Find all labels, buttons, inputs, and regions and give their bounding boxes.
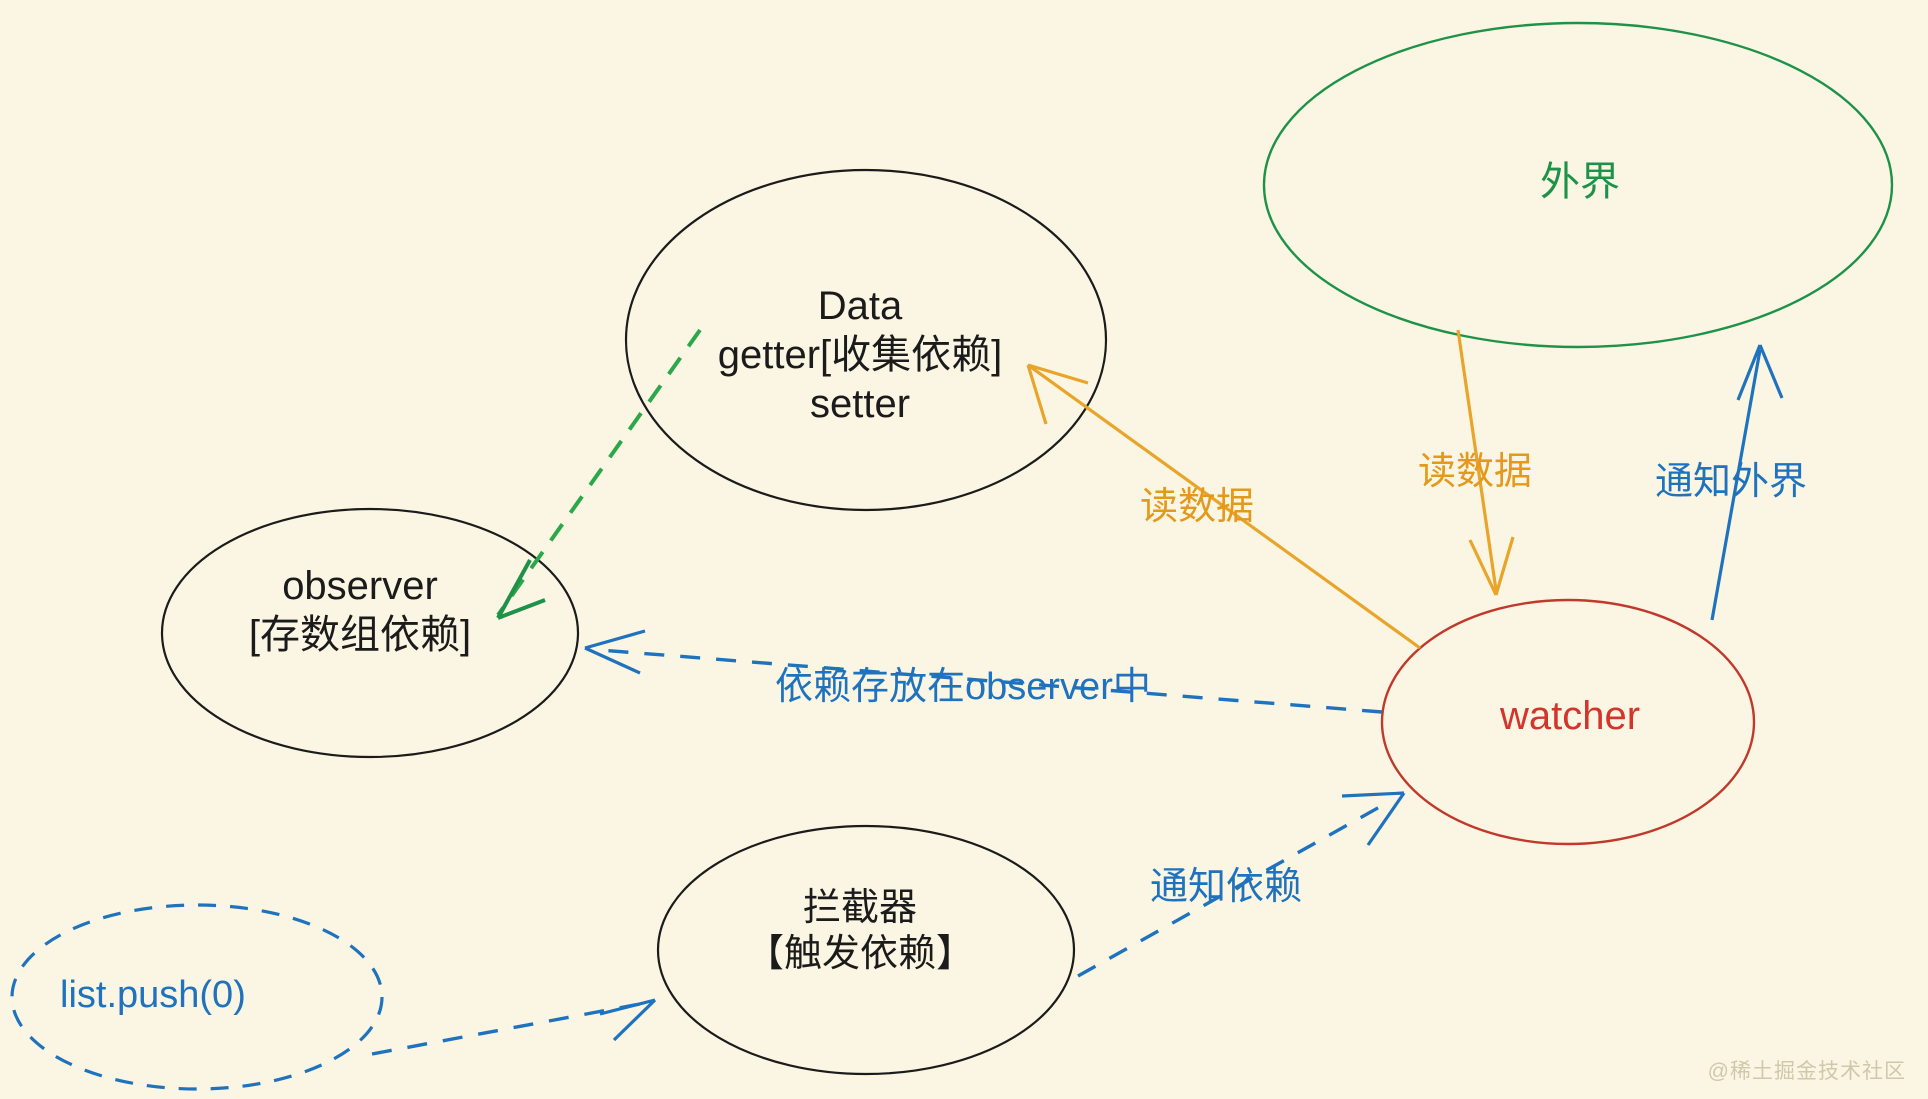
- node-watcher-ellipse[interactable]: [1382, 600, 1754, 844]
- edge-listpush-to-interceptor[interactable]: [372, 1000, 655, 1054]
- edge-interceptor-to-watcher[interactable]: [1078, 793, 1404, 976]
- edge-watcher-to-data[interactable]: [1028, 365, 1420, 648]
- node-data-ellipse[interactable]: [626, 170, 1106, 510]
- node-interceptor-ellipse[interactable]: [658, 826, 1074, 1074]
- node-list-push-ellipse[interactable]: [12, 905, 382, 1089]
- edge-outside-to-watcher[interactable]: [1458, 330, 1513, 595]
- node-observer-ellipse[interactable]: [162, 509, 578, 757]
- edge-watcher-to-observer[interactable]: [585, 631, 1382, 712]
- edge-data-to-observer[interactable]: [498, 330, 700, 618]
- node-outside-ellipse[interactable]: [1264, 23, 1892, 347]
- diagram-canvas: Data getter[收集依赖] setter observer [存数组依赖…: [0, 0, 1928, 1099]
- diagram-svg: [0, 0, 1928, 1099]
- edge-watcher-to-outside[interactable]: [1712, 345, 1782, 620]
